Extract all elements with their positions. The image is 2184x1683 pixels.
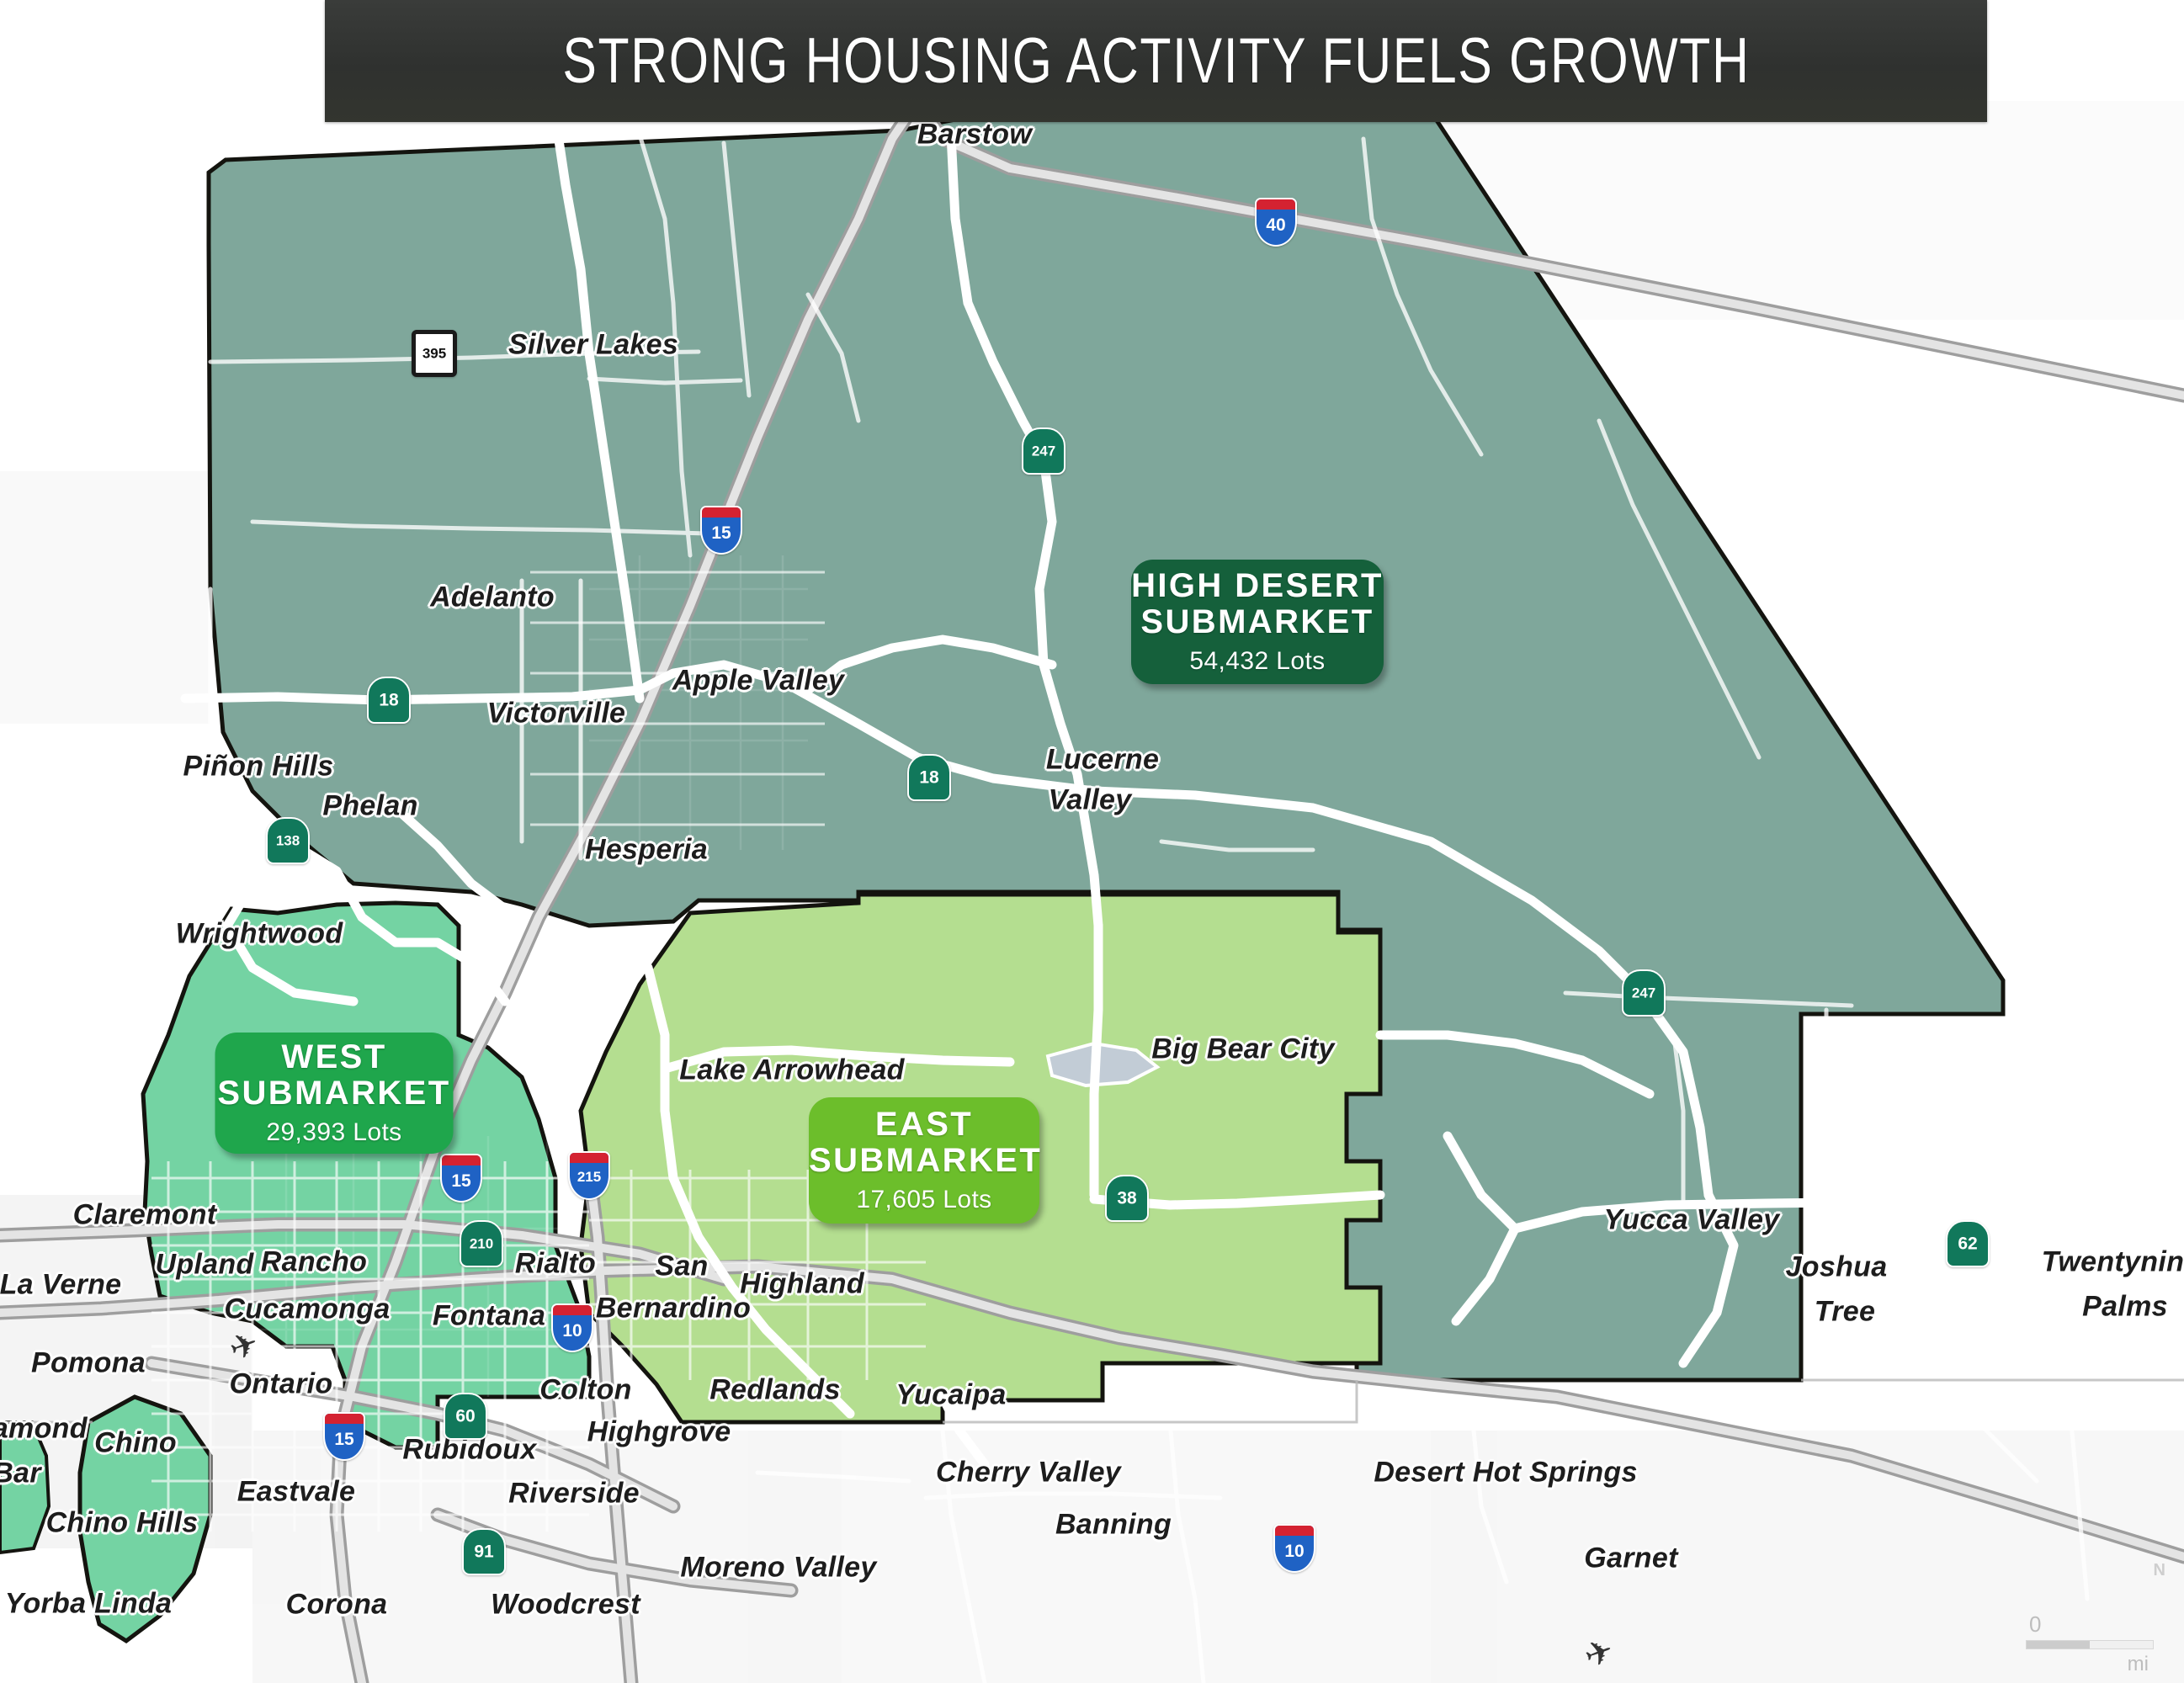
badge-high-desert-name: HIGH DESERT [1131, 567, 1384, 604]
scale-bar-graphic [2026, 1640, 2154, 1649]
badge-high-desert-title: HIGH DESERT SUBMARKET [1131, 568, 1384, 640]
badge-east-line2: SUBMARKET [809, 1142, 1042, 1179]
badge-west-lots: 29,393 Lots [215, 1118, 454, 1147]
map-vector [0, 0, 2184, 1683]
badge-west-title: WEST SUBMARKET [215, 1039, 454, 1112]
scale-bar-unit: mi [2006, 1653, 2149, 1676]
map-screenshot: STRONG HOUSING ACTIVITY FUELS GROWTH HIG… [0, 0, 2184, 1683]
badge-east-lots: 17,605 Lots [809, 1186, 1039, 1214]
badge-high-desert-lots: 54,432 Lots [1131, 647, 1384, 676]
page-title-banner: STRONG HOUSING ACTIVITY FUELS GROWTH [325, 0, 1987, 122]
badge-east-name: EAST [875, 1106, 973, 1143]
badge-high-desert-submarket[interactable]: HIGH DESERT SUBMARKET 54,432 Lots [1131, 560, 1384, 684]
badge-east-submarket[interactable]: EAST SUBMARKET 17,605 Lots [809, 1097, 1039, 1224]
badge-west-name: WEST [281, 1038, 386, 1075]
page-title: STRONG HOUSING ACTIVITY FUELS GROWTH [562, 24, 1750, 98]
badge-east-title: EAST SUBMARKET [809, 1107, 1039, 1179]
badge-high-desert-line2: SUBMARKET [1140, 603, 1374, 640]
map-canvas[interactable] [0, 0, 2184, 1683]
scale-bar: 0 mi [2006, 1613, 2174, 1676]
badge-west-submarket[interactable]: WEST SUBMARKET 29,393 Lots [215, 1033, 454, 1154]
badge-west-line2: SUBMARKET [217, 1075, 450, 1112]
north-arrow-label: N [2154, 1561, 2165, 1580]
north-arrow: N [2154, 1561, 2165, 1580]
scale-bar-zero: 0 [2029, 1613, 2174, 1635]
